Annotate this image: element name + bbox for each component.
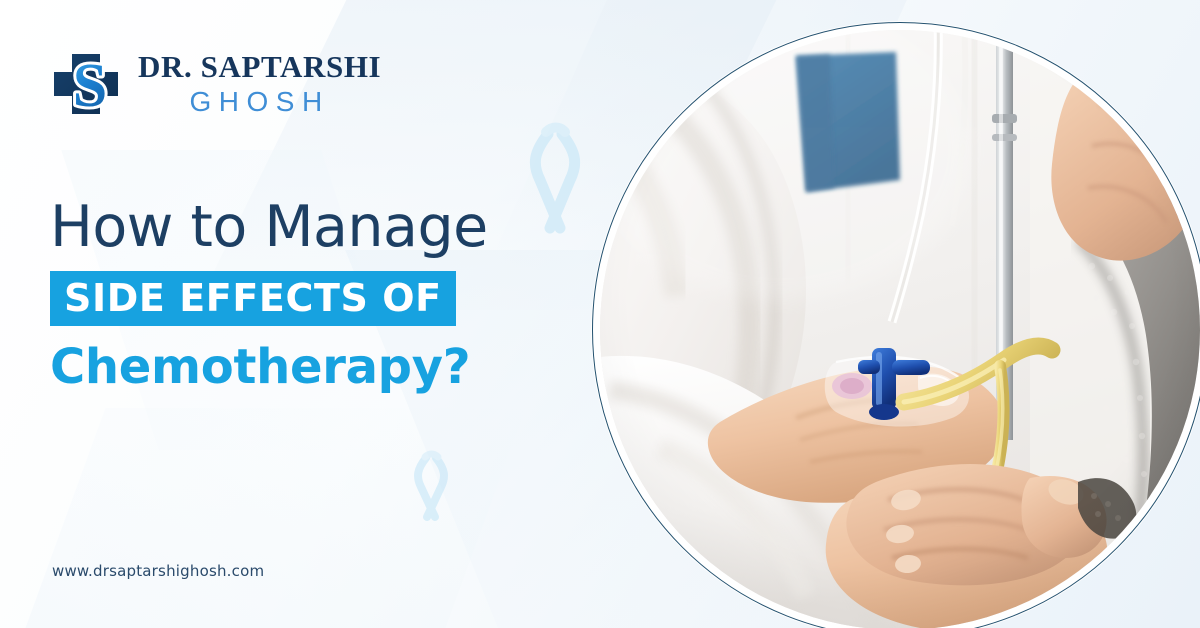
promo-banner: S S DR. SAPTARSHI GHOSH How to Manage SI… <box>0 0 1200 628</box>
headline-highlight-wrap: SIDE EFFECTS OF <box>50 271 456 326</box>
headline-line-3: Chemotherapy? <box>50 342 570 392</box>
website-url[interactable]: www.drsaptarshighosh.com <box>52 562 264 580</box>
headline-line-2-highlight: SIDE EFFECTS OF <box>50 271 456 326</box>
medical-cross-s-monogram-icon: S S <box>50 46 124 120</box>
background-facet <box>0 408 526 628</box>
brand-name-secondary: GHOSH <box>138 88 381 116</box>
brand-name-primary: DR. SAPTARSHI <box>138 51 381 82</box>
awareness-ribbon-icon <box>408 448 454 522</box>
brand-logo[interactable]: S S DR. SAPTARSHI GHOSH <box>50 46 381 120</box>
chemotherapy-photo <box>600 30 1200 628</box>
headline-line-1: How to Manage <box>50 198 570 257</box>
headline-block: How to Manage SIDE EFFECTS OF Chemothera… <box>50 198 570 393</box>
svg-text:S: S <box>73 52 107 120</box>
photo-ring-frame <box>592 22 1200 628</box>
